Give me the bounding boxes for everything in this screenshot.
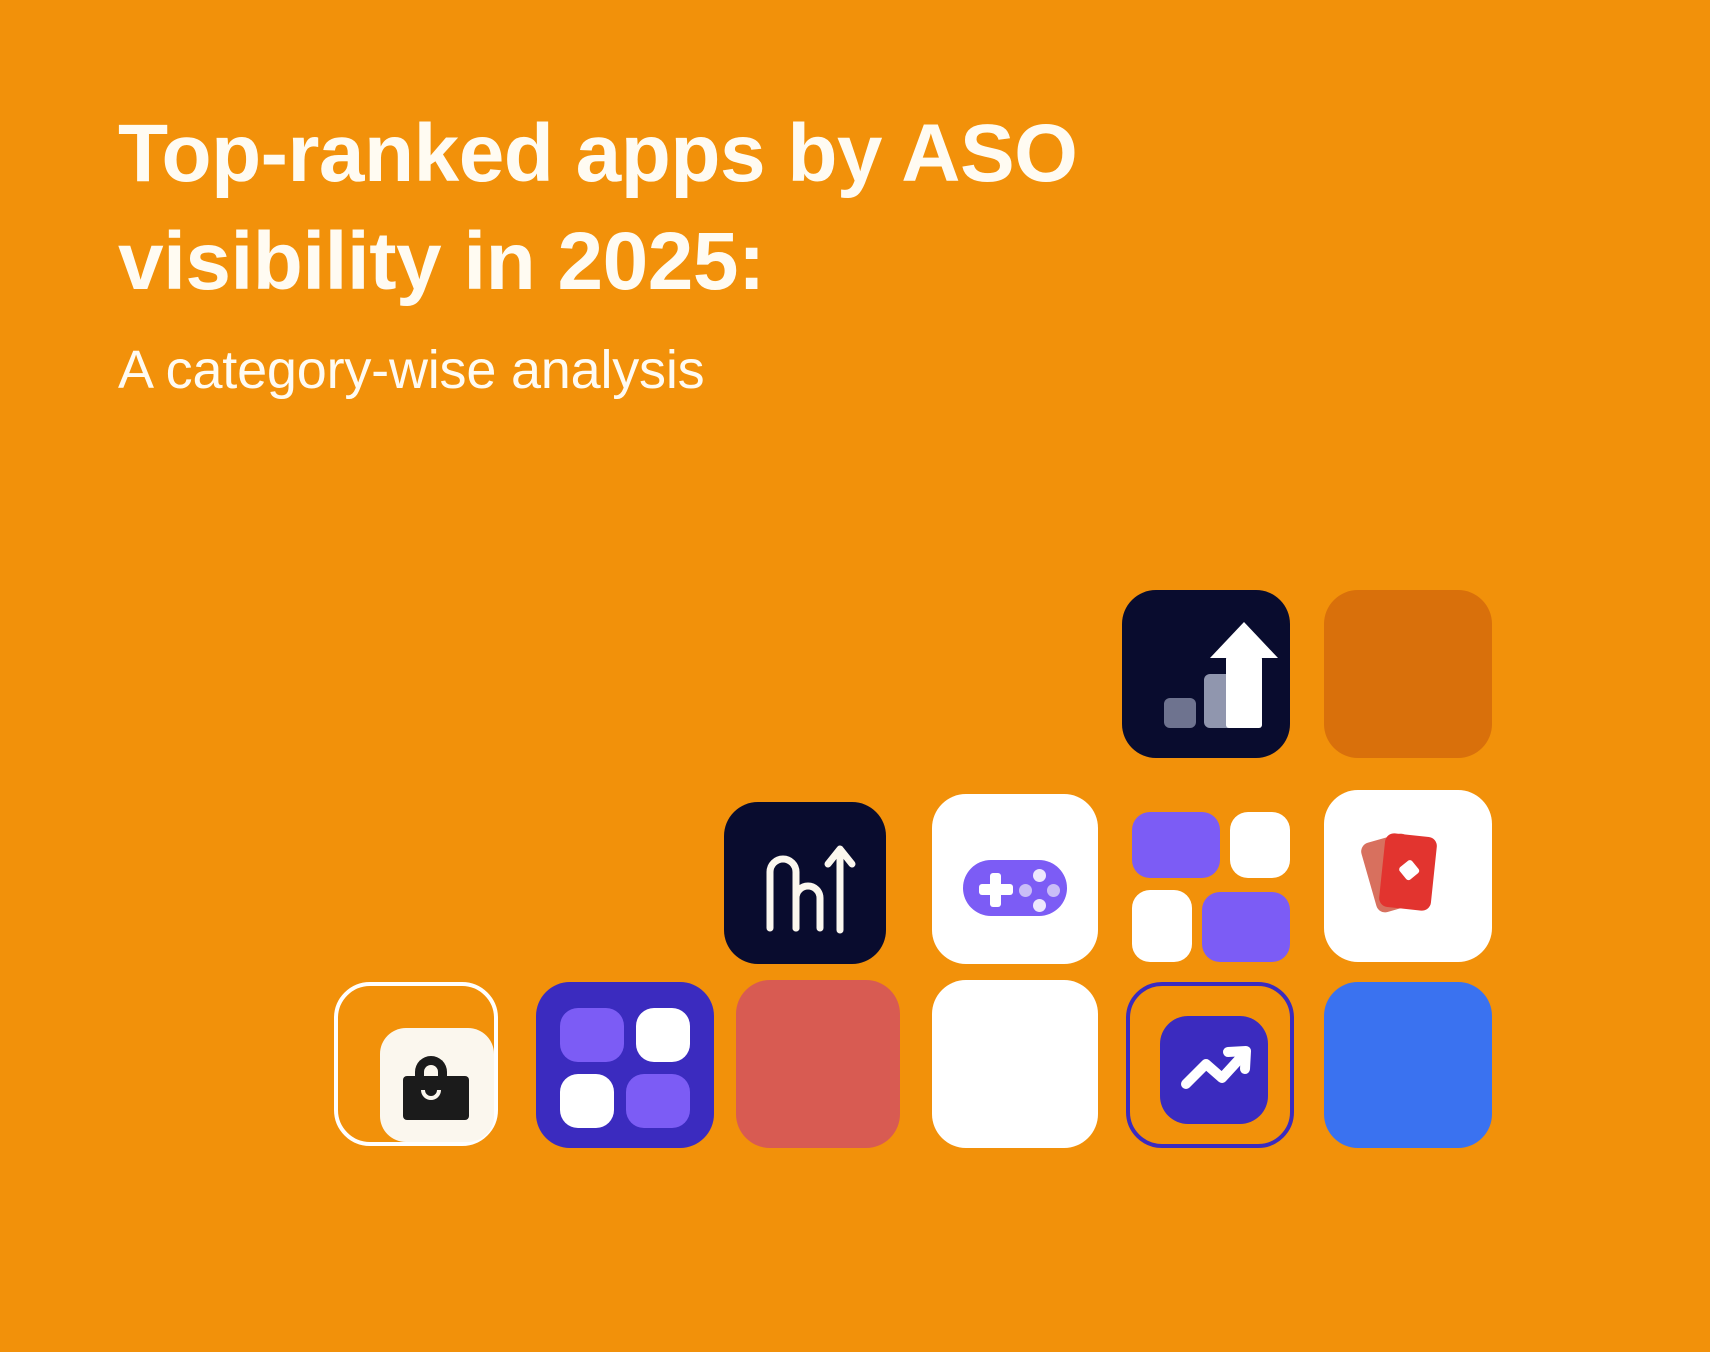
up-arrow-head-icon (1210, 622, 1278, 658)
white-chip-tile-2[interactable] (1132, 890, 1192, 962)
trend-up-icon[interactable] (1126, 982, 1294, 1148)
app-grid-icon[interactable] (536, 982, 714, 1148)
blue-tile[interactable] (1324, 982, 1492, 1148)
wave-logo-icon[interactable] (724, 802, 886, 964)
orange-tile[interactable] (1324, 590, 1492, 758)
white-tile[interactable] (932, 980, 1098, 1148)
purple-chip-tile[interactable] (1132, 812, 1220, 878)
grid-cell-top-right (636, 1008, 690, 1062)
gamepad-button-left (1019, 884, 1032, 897)
trend-arrow-icon (1160, 1016, 1268, 1124)
shopping-bag-icon[interactable] (334, 982, 498, 1146)
aso-growth-icon[interactable] (1122, 590, 1290, 758)
poster-canvas: Top-ranked apps by ASO visibility in 202… (0, 0, 1710, 1352)
playing-cards-icon (1338, 811, 1478, 941)
shopping-bag-inner (380, 1028, 494, 1142)
up-arrow-shaft-icon (1226, 656, 1262, 728)
trend-inner-tile (1160, 1016, 1268, 1124)
purple-chip-tile-2[interactable] (1202, 892, 1290, 962)
gamepad-button-right (1047, 884, 1060, 897)
white-chip-tile[interactable] (1230, 812, 1290, 878)
red-tile[interactable] (736, 980, 900, 1148)
diamond-suit-icon (1398, 859, 1421, 882)
gamepad-button-top (1033, 869, 1046, 882)
app-icon-mosaic (0, 0, 1710, 1352)
gamepad-icon (937, 794, 1093, 964)
gamepad-body (963, 860, 1067, 916)
wave-arrow-logo-icon (724, 802, 886, 964)
grid-cell-top-left (560, 1008, 624, 1062)
grid-cell-bottom-left (560, 1074, 614, 1128)
card-front (1378, 832, 1437, 911)
games-gamepad-icon[interactable] (932, 794, 1098, 964)
card-game-icon[interactable] (1324, 790, 1492, 962)
chart-bar-small (1164, 698, 1196, 728)
gamepad-button-bottom (1033, 899, 1046, 912)
grid-cell-bottom-right (626, 1074, 690, 1128)
dpad-vertical (990, 873, 1001, 907)
